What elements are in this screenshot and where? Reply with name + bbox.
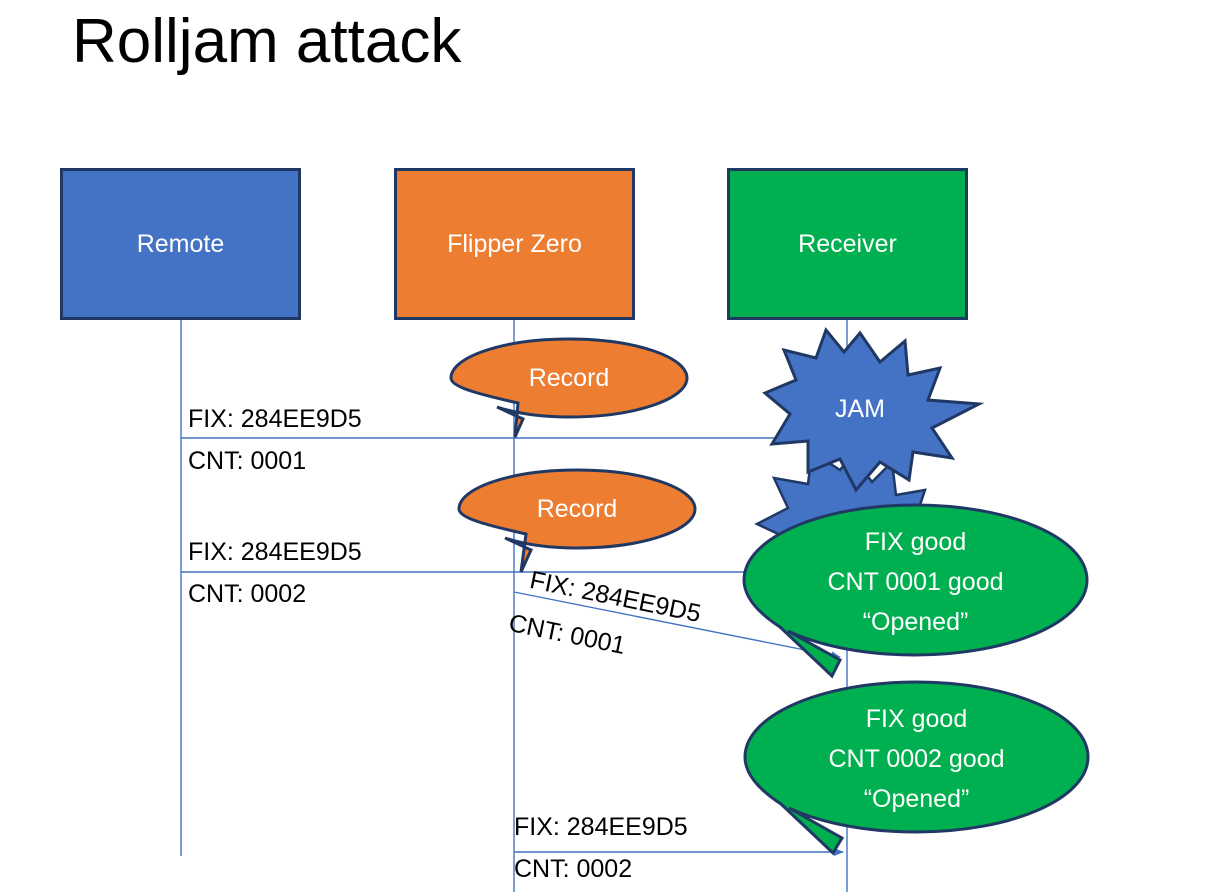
slide-canvas: Rolljam attack (0, 0, 1231, 892)
message-4-line-1: FIX: 284EE9D5 (514, 813, 688, 842)
actor-box-receiver[interactable]: Receiver (727, 168, 968, 320)
explosion-jam1-shape (765, 330, 979, 490)
message-1-line-1: FIX: 284EE9D5 (188, 405, 362, 434)
actor-label-flipper: Flipper Zero (447, 230, 582, 259)
message-2-line-2: CNT: 0002 (188, 580, 306, 609)
message-4-line-2: CNT: 0002 (514, 855, 632, 884)
callout-record2-shape (459, 470, 695, 572)
diagram-shapes-layer (0, 0, 1231, 892)
actor-box-flipper[interactable]: Flipper Zero (394, 168, 635, 320)
actor-box-remote[interactable]: Remote (60, 168, 301, 320)
actor-label-receiver: Receiver (798, 230, 897, 259)
message-1-line-2: CNT: 0001 (188, 447, 306, 476)
callout-good1-shape (744, 505, 1087, 676)
actor-label-remote: Remote (137, 230, 225, 259)
callout-record1-shape (451, 339, 687, 437)
message-2-line-1: FIX: 284EE9D5 (188, 538, 362, 567)
callout-good2-shape (745, 682, 1088, 853)
